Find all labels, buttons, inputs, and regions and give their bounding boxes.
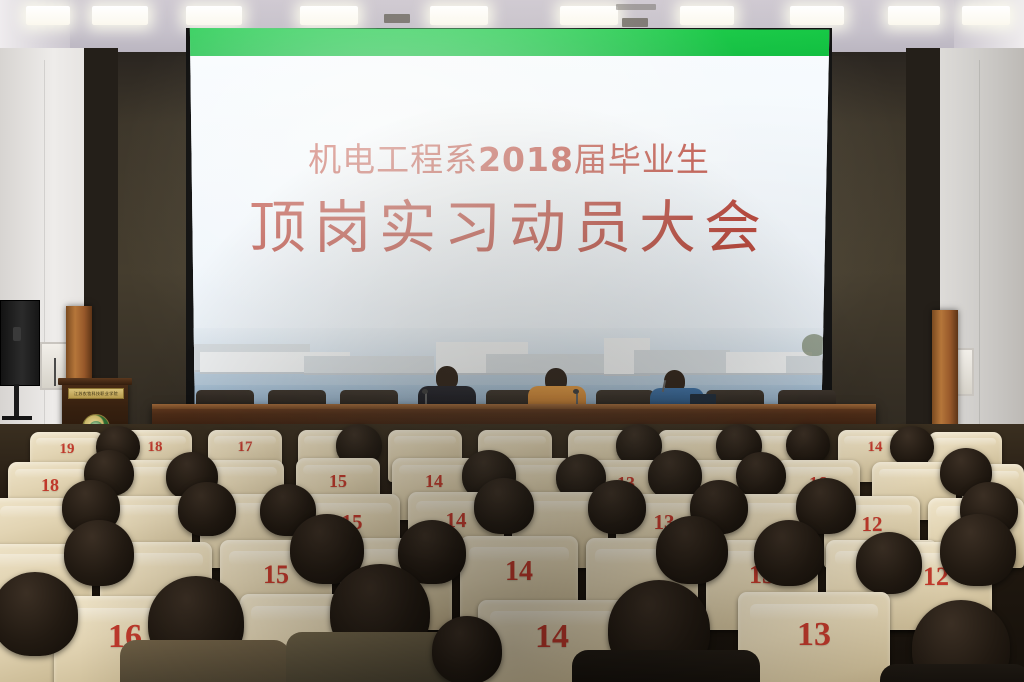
wall-seam-right [979, 60, 980, 480]
ceiling-light [560, 6, 618, 25]
conference-hall-photo: 机电工程系2018届毕业生 顶岗实习动员大会 [0, 0, 1024, 682]
seat: 13 [738, 592, 890, 682]
slide-title: 顶岗实习动员大会 [186, 182, 832, 264]
audience-seating: 19 18 17 14 18 15 [0, 424, 1024, 682]
loudspeaker-cabinet [0, 300, 40, 386]
photo-building [634, 350, 730, 375]
audience-head [474, 478, 534, 534]
audience-head [432, 616, 502, 682]
ceiling-vent [622, 18, 648, 27]
photo-building [304, 356, 434, 375]
audience-head [890, 426, 934, 466]
audience-head [736, 452, 786, 498]
audience-head [656, 516, 728, 584]
audience-head [178, 482, 236, 536]
projection-screen: 机电工程系2018届毕业生 顶岗实习动员大会 [186, 28, 832, 433]
podium-nameplate: 江苏农牧科技职业学院 [68, 388, 124, 399]
podium-top [58, 378, 132, 385]
speaker-driver [13, 327, 21, 341]
audience-head [856, 532, 922, 594]
seat-number: 14 [460, 558, 578, 586]
ceiling-light [300, 6, 358, 25]
ceiling-vent [384, 14, 410, 23]
audience-head [0, 572, 78, 656]
ceiling-light [92, 6, 148, 25]
speaker-foot [2, 416, 32, 420]
photo-building [786, 356, 832, 375]
pillar-right [932, 310, 958, 440]
audience-head [940, 514, 1016, 586]
ceiling-light [680, 6, 734, 25]
ceiling-vent [616, 4, 656, 10]
slide-green-banner [186, 28, 832, 56]
ceiling-light [430, 6, 488, 25]
photo-building [486, 354, 606, 375]
audience-head [64, 520, 134, 586]
audience-shoulders [572, 650, 760, 682]
seat-number: 13 [738, 618, 890, 652]
seat-number: 17 [208, 440, 282, 455]
microphone-head-icon [573, 389, 579, 394]
speaker-stand [14, 384, 19, 418]
slide-subtitle-year: 2018 [478, 140, 574, 179]
slide-subtitle: 机电工程系2018届毕业生 [186, 133, 832, 181]
ceiling-light [790, 6, 844, 25]
audience-head [754, 520, 824, 586]
audience-head [588, 480, 646, 534]
microphone-head-icon [422, 389, 428, 394]
slide-subtitle-suffix: 届毕业生 [574, 140, 710, 179]
head-table-edge [152, 404, 876, 409]
audience-shoulders [120, 640, 290, 682]
photo-tree [802, 334, 826, 356]
audience-head [786, 424, 830, 464]
seat-number: 15 [296, 472, 380, 490]
slide-subtitle-prefix: 机电工程系 [308, 140, 478, 179]
wall-seam-left [44, 60, 45, 480]
ceiling-light [26, 6, 70, 25]
ceiling-light [962, 6, 1010, 25]
audience-shoulders [880, 664, 1024, 682]
podium-microphone [54, 358, 56, 386]
ceiling-light [186, 6, 242, 25]
ceiling-light [888, 6, 940, 25]
